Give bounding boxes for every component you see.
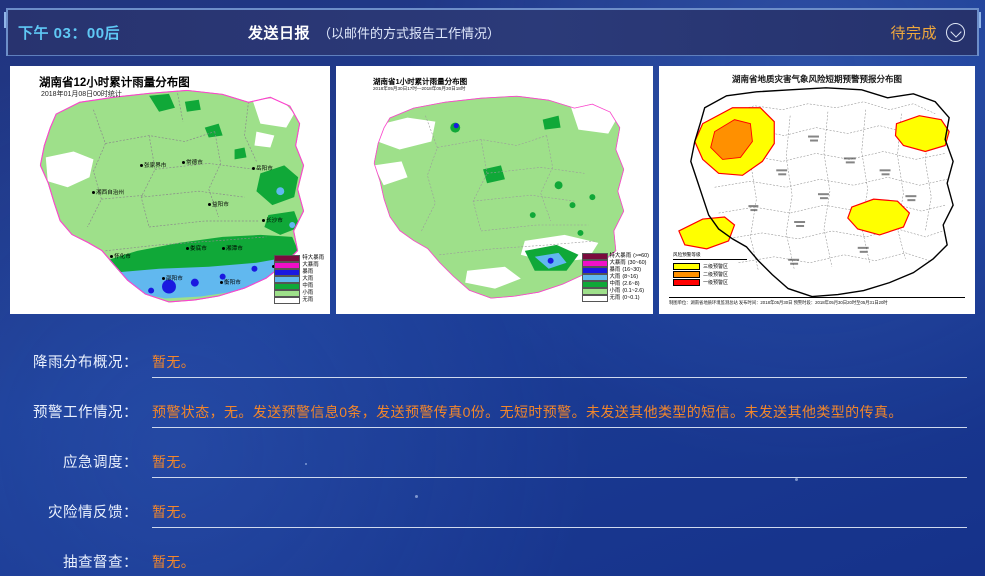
decor-sparkle: [415, 495, 418, 498]
task-time: 下午 03：00后: [18, 22, 248, 43]
legend-label: 暴雨: [610, 268, 621, 273]
legend-item: 小雨: [274, 290, 324, 297]
legend-label: 三级预警区: [703, 263, 728, 270]
legend-range: (16~30): [622, 268, 641, 273]
header-right-group: 待完成: [890, 22, 965, 43]
field-spot-check[interactable]: 暂无。: [152, 552, 967, 576]
map-city-text: 岳阳市: [256, 166, 273, 172]
legend-swatch: [274, 262, 300, 268]
decor-sparkle: [305, 463, 307, 465]
legend-item: 大雨: [274, 276, 324, 283]
map-city-text: 益阳市: [212, 202, 229, 208]
legend-swatch: [673, 263, 700, 270]
decor-sparkle: [795, 478, 798, 481]
legend-item: 三级预警区: [673, 262, 747, 270]
legend-label: 小雨: [610, 289, 621, 294]
decor-sparkle: [62, 364, 64, 366]
legend-item: 大暴雨(30~60): [582, 260, 649, 267]
map-city-text: 长沙市: [266, 218, 283, 224]
legend-label: 特大暴雨: [302, 256, 324, 261]
legend-item: 中雨: [274, 283, 324, 290]
legend-label: 二级预警区: [703, 271, 728, 278]
map-city-label: 益阳市: [208, 200, 229, 208]
map-city-text: 张家界市: [144, 163, 166, 169]
legend-item: 暴雨(16~30): [582, 267, 649, 274]
field-label: 灾险情反馈：: [18, 501, 152, 528]
map3-legend: 风险预警等级 三级预警区 二级预警区 一级预警区: [673, 252, 747, 286]
legend-item: 大暴雨: [274, 262, 324, 269]
legend-range: (30~60): [628, 261, 647, 266]
form-row-emergency-dispatch: 应急调度： 暂无。: [18, 428, 967, 478]
form-row-disaster-feedback: 灾险情反馈： 暂无。: [18, 478, 967, 528]
legend-swatch: [274, 276, 300, 282]
legend-swatch: [274, 297, 300, 303]
report-form: 降雨分布概况： 暂无。 预警工作情况： 预警状态，无。发送预警信息0条，发送预警…: [18, 328, 967, 576]
map-city-label: 衡阳市: [220, 278, 241, 286]
legend-swatch: [673, 279, 700, 286]
map-card-geohazard-warning[interactable]: 湖南省地质灾害气象风险短期预警预报分布图 风险预警等级 三级预警区 二级预警区 …: [659, 66, 975, 314]
chevron-down-circle-icon[interactable]: [946, 23, 965, 42]
map2-legend: 特大暴雨(>=60) 大暴雨(30~60) 暴雨(16~30) 大雨(8~16)…: [582, 253, 649, 302]
warning-zone-ne: [895, 116, 949, 152]
map-city-label: 怀化市: [110, 252, 131, 260]
legend-label: 暴雨: [302, 270, 313, 275]
map-city-label: 娄底市: [186, 244, 207, 252]
task-subtitle: （以邮件的方式报告工作情况）: [318, 23, 500, 42]
legend-label: 大暴雨: [302, 263, 318, 268]
map1-subtitle: 2018年01月08日00时统计: [41, 89, 122, 99]
maps-row: 湖南省12小时累计雨量分布图 2018年01月08日00时统计 湘西自治州 张家…: [10, 66, 975, 314]
field-rainfall-overview[interactable]: 暂无。: [152, 352, 967, 378]
map-city-label: 张家界市: [140, 161, 166, 169]
legend-heading: 风险预警等级: [673, 252, 747, 260]
legend-item: 无雨(0~0.1): [582, 295, 649, 302]
legend-range: (0.1~2.6): [622, 289, 644, 294]
field-label: 抽查督查：: [18, 551, 152, 576]
legend-label: 一级预警区: [703, 279, 728, 286]
legend-swatch: [582, 260, 608, 266]
legend-range: (0~0.1): [622, 296, 639, 301]
map2-subtitle: 2018年05月30日17时—2018年05月30日18时: [373, 86, 465, 92]
map-city-text: 湘西自治州: [96, 190, 124, 196]
legend-item: 无雨: [274, 297, 324, 304]
legend-swatch: [274, 283, 300, 289]
legend-swatch: [582, 281, 608, 287]
map-city-text: 衡阳市: [224, 280, 241, 286]
map-city-label: 常德市: [182, 158, 203, 166]
legend-swatch: [274, 255, 300, 261]
map-card-1h-rainfall[interactable]: 湖南省1小时累计雨量分布图 2018年05月30日17时—2018年05月30日…: [336, 66, 653, 314]
legend-item: 特大暴雨(>=60): [582, 253, 649, 260]
legend-label: 小雨: [302, 291, 313, 296]
legend-item: 特大暴雨: [274, 255, 324, 262]
legend-item: 大雨(8~16): [582, 274, 649, 281]
field-label: 降雨分布概况：: [18, 351, 152, 378]
map1-title: 湖南省12小时累计雨量分布图: [39, 74, 190, 90]
legend-swatch: [673, 271, 700, 278]
map-city-label: 长沙市: [262, 216, 283, 224]
map-city-text: 常德市: [186, 160, 203, 166]
legend-item: 小雨(0.1~2.6): [582, 288, 649, 295]
field-value: 暂无。: [152, 452, 967, 472]
legend-item: 中雨(2.6~8): [582, 281, 649, 288]
map-city-text: 怀化市: [114, 254, 131, 260]
field-label: 应急调度：: [18, 451, 152, 478]
legend-swatch: [582, 267, 608, 273]
legend-item: 一级预警区: [673, 278, 747, 286]
legend-label: 中雨: [610, 282, 621, 287]
status-badge: 待完成: [890, 22, 937, 43]
legend-range: (2.6~8): [622, 282, 639, 287]
field-disaster-feedback[interactable]: 暂无。: [152, 502, 967, 528]
field-label: 预警工作情况：: [18, 401, 152, 428]
form-row-rainfall-overview: 降雨分布概况： 暂无。: [18, 328, 967, 378]
field-warning-work[interactable]: 预警状态，无。发送预警信息0条，发送预警传真0份。无短时预警。未发送其他类型的短…: [152, 402, 967, 428]
legend-label: 无雨: [302, 298, 313, 303]
legend-range: (8~16): [622, 275, 638, 280]
legend-swatch: [274, 269, 300, 275]
field-value: 预警状态，无。发送预警信息0条，发送预警传真0份。无短时预警。未发送其他类型的短…: [152, 402, 967, 422]
field-value: 暂无。: [152, 352, 967, 372]
form-row-warning-work: 预警工作情况： 预警状态，无。发送预警信息0条，发送预警传真0份。无短时预警。未…: [18, 378, 967, 428]
legend-swatch: [582, 274, 608, 280]
legend-label: 特大暴雨: [610, 254, 632, 259]
field-value: 暂无。: [152, 552, 967, 572]
legend-item: 二级预警区: [673, 270, 747, 278]
map1-legend: 特大暴雨 大暴雨 暴雨 大雨 中雨 小雨 无雨: [274, 255, 324, 304]
map-city-text: 湘潭市: [226, 246, 243, 252]
legend-label: 中雨: [302, 284, 313, 289]
legend-item: 暴雨: [274, 269, 324, 276]
map-city-label: 湘西自治州: [92, 188, 124, 196]
map-city-label: 邵阳市: [162, 274, 183, 282]
legend-label: 无雨: [610, 296, 621, 301]
field-value: 暂无。: [152, 502, 967, 522]
legend-swatch: [582, 295, 608, 301]
legend-label: 大暴雨: [610, 261, 626, 266]
map-city-text: 邵阳市: [166, 276, 183, 282]
map3-footer: 制图单位：湖南省地质环境监测总站 发布时间：2018年05月30日 预警时段：2…: [669, 297, 965, 306]
task-title: 发送日报: [248, 22, 310, 43]
task-header-bar: 下午 03：00后 发送日报 （以邮件的方式报告工作情况） 待完成: [6, 8, 979, 56]
form-row-spot-check: 抽查督查： 暂无。: [18, 528, 967, 576]
legend-swatch: [274, 290, 300, 296]
map-city-label: 湘潭市: [222, 244, 243, 252]
field-emergency-dispatch[interactable]: 暂无。: [152, 452, 967, 478]
map3-title: 湖南省地质灾害气象风险短期预警预报分布图: [659, 73, 975, 85]
legend-label: 大雨: [302, 277, 313, 282]
legend-range: (>=60): [633, 254, 649, 259]
map-city-text: 娄底市: [190, 246, 207, 252]
map-city-label: 岳阳市: [252, 164, 273, 172]
map-card-12h-rainfall[interactable]: 湖南省12小时累计雨量分布图 2018年01月08日00时统计 湘西自治州 张家…: [10, 66, 330, 314]
legend-swatch: [582, 288, 608, 294]
legend-label: 大雨: [610, 275, 621, 280]
legend-swatch: [582, 253, 608, 259]
